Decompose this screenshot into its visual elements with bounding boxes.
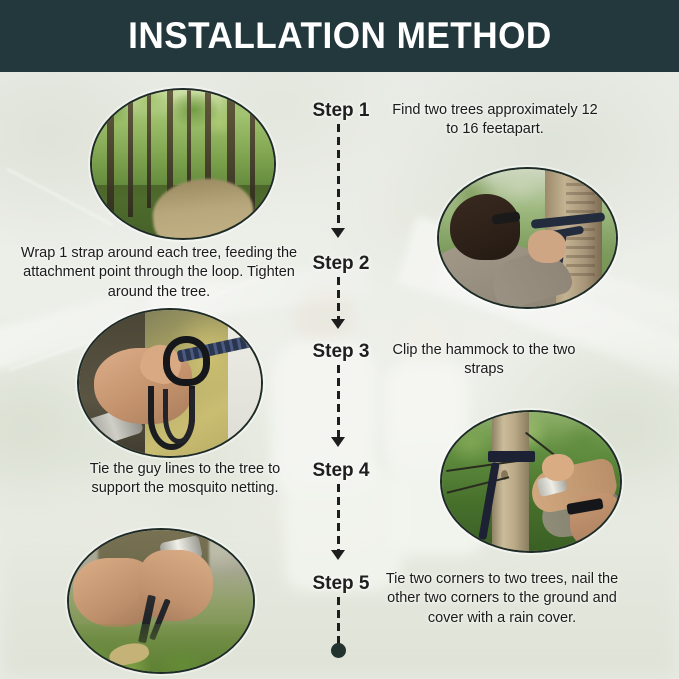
carabiner [163,336,210,386]
tree-trunk [250,90,255,211]
tree-strap [488,451,534,462]
connector-dashed-line [337,597,340,645]
step-1-photo [90,88,276,240]
step-3-text: Clip the hammock to the two straps [384,341,584,380]
step-2-photo [437,167,618,309]
carabiner-scene [79,310,261,456]
step-3-label: Step 3 [281,341,401,363]
step-4-text: Tie the guy lines to the tree to support… [66,460,304,499]
guy-line-scene [442,412,620,551]
connector-dashed-line [337,484,340,550]
step-5-text: Tie two corners to two trees, nail the o… [382,570,622,628]
step-4-photo [440,410,622,553]
stake-scene [69,530,253,672]
connector-arrow-icon [331,319,345,329]
connector-arrow-icon [331,437,345,447]
tree-trunk [128,90,133,217]
page-title: INSTALLATION METHOD [128,15,552,57]
installation-method-poster: INSTALLATION METHOD [0,0,679,679]
foreground-grass [69,624,253,672]
connector-dashed-line [337,365,340,437]
tree-trunk [492,410,529,553]
step-2-text: Wrap 1 strap around each tree, feeding t… [18,244,300,302]
header-bar: INSTALLATION METHOD [0,0,679,72]
step-3-photo [77,308,263,458]
forest-scene [92,90,274,238]
tree-trunk [147,90,151,208]
connector-dashed-line [337,124,340,228]
person-head [450,194,521,260]
connector-end-dot-icon [331,643,346,658]
connector-arrow-icon [331,228,345,238]
step-1-label: Step 1 [281,100,401,122]
person-leg-light [228,308,263,458]
person-hand [542,454,574,482]
tree-trunk [107,90,114,226]
person-hand [528,230,567,263]
step-5-photo [67,528,255,674]
content-layer: Step 1 Step 2 Step 3 Step 4 Step 5 Find … [0,0,679,679]
step-1-text: Find two trees approximately 12 to 16 fe… [386,101,604,140]
strap-tree-scene [439,169,616,307]
forest-canopy [92,90,274,173]
connector-arrow-icon [331,550,345,560]
connector-dashed-line [337,277,340,319]
